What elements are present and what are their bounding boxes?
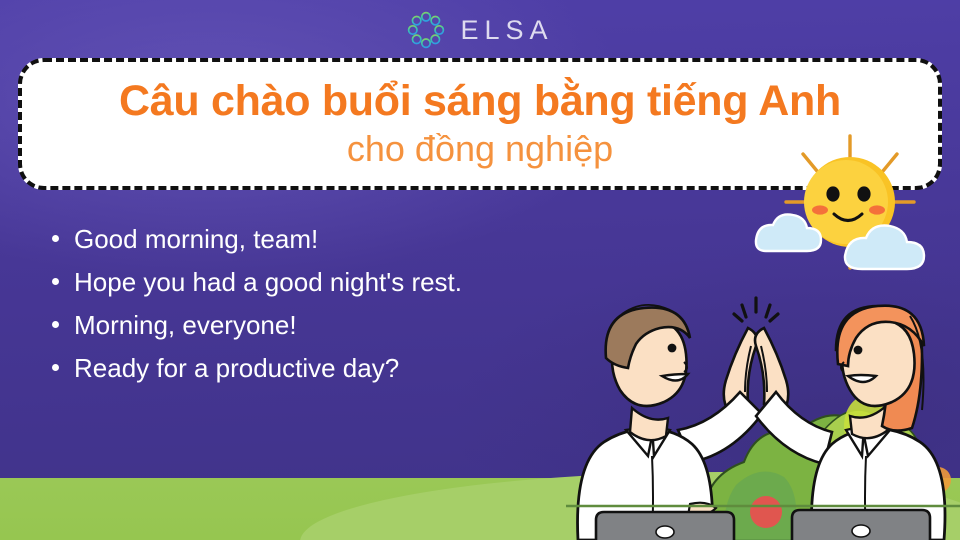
list-item-label: Ready for a productive day? (74, 353, 399, 383)
elsa-star-flower-icon (406, 10, 446, 50)
high-five-spark-icon (734, 298, 778, 321)
bullet-dot-icon (52, 278, 59, 285)
brand-header: ELSA (0, 6, 960, 54)
bullet-dot-icon (52, 321, 59, 328)
list-item-label: Hope you had a good night's rest. (74, 267, 462, 297)
smiling-sun-icon (742, 130, 960, 280)
list-item: Good morning, team! (52, 224, 672, 254)
berry-red-icon (750, 496, 782, 528)
brand-name: ELSA (460, 17, 553, 44)
list-item-label: Morning, everyone! (74, 310, 297, 340)
bullet-dot-icon (52, 364, 59, 371)
title-line-1: Câu chào buổi sáng bằng tiếng Anh (22, 79, 938, 125)
bullet-dot-icon (52, 235, 59, 242)
laptop-icon (596, 512, 734, 540)
laptop-icon (792, 510, 930, 540)
list-item-label: Good morning, team! (74, 224, 318, 254)
two-colleagues-high-five-illustration (566, 280, 960, 540)
slide-canvas: ELSA Câu chào buổi sáng bằng tiếng Anh c… (0, 0, 960, 540)
